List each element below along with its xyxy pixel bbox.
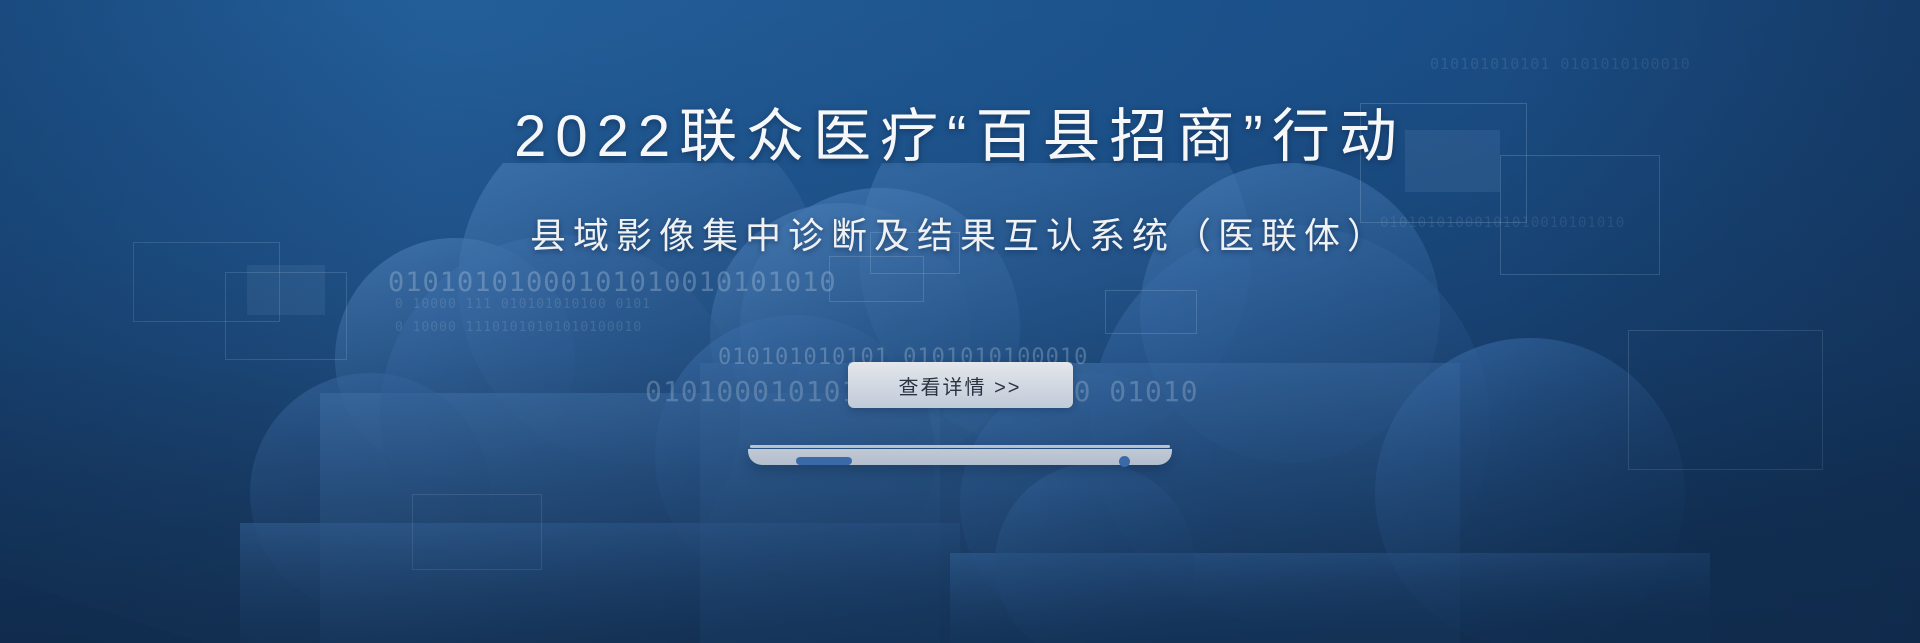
background-vignette (0, 0, 1920, 643)
promo-banner: 01010101000101010010101010 0 10000 111 0… (0, 0, 1920, 643)
